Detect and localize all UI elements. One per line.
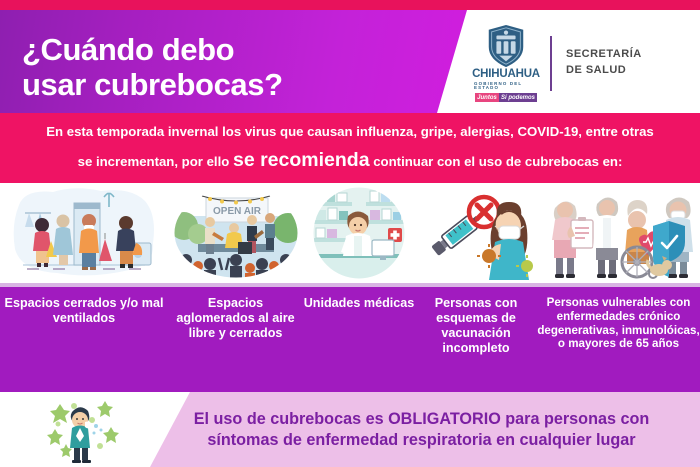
illustration-strip: OPEN AIR (0, 183, 700, 283)
caption-item-2: Espacios aglomerados al aire libre y cer… (168, 287, 303, 341)
open-air-concert-crowd-illustration: OPEN AIR (172, 186, 300, 280)
footer-line-1: El uso de cubrebocas es OBLIGATORIO para… (194, 409, 650, 430)
sneezing-person-with-germs-illustration (44, 398, 124, 464)
chihuahua-shield-logo: CHIHUAHUA GOBIERNO DEL ESTADO Juntos Sí … (474, 24, 538, 102)
secretaria-line2: DE SALUD (566, 63, 642, 79)
illustration-cell-2: OPEN AIR (168, 183, 303, 283)
page-title-line1: ¿Cuándo debo (22, 32, 234, 67)
intro-line-2-after: continuar con el uso de cubrebocas en: (370, 154, 623, 169)
illustration-cell-1 (0, 183, 168, 283)
infographic-poster: ¿Cuándo debo usar cubrebocas? CHIHUAHUA … (0, 0, 700, 467)
page-title: ¿Cuándo debo usar cubrebocas? (22, 32, 442, 103)
logo-vertical-divider (550, 36, 552, 91)
caption-item-4: Personas con esquemas de vacunación inco… (415, 287, 537, 356)
top-accent-strip (0, 0, 700, 10)
intro-emphasis: se recomienda (233, 149, 370, 171)
intro-line-2-before: se incrementan, por ello (78, 154, 233, 169)
logo-government-label: GOBIERNO DEL ESTADO (474, 82, 538, 91)
syringe-crossed-out-masked-woman-illustration (417, 186, 535, 280)
illustration-cell-4 (415, 183, 537, 283)
footer-line1-before: El uso de cubrebocas es (194, 410, 388, 428)
secretaria-line1: SECRETARÍA (566, 47, 642, 63)
government-logo: CHIHUAHUA GOBIERNO DEL ESTADO Juntos Sí … (474, 22, 700, 104)
shield-icon (486, 24, 526, 68)
footer-obligatorio: OBLIGATORIO (388, 410, 501, 428)
intro-line-1: En esta temporada invernal los virus que… (46, 125, 654, 140)
logo-state-name: CHIHUAHUA (472, 69, 540, 81)
footer-line1-after: para personas con (501, 410, 649, 428)
logo-tagline-juntos: Juntos (475, 93, 499, 102)
caption-item-5: Personas vulnerables con enfermedades cr… (537, 287, 700, 351)
page-title-line2: usar cubrebocas? (22, 67, 442, 102)
caption-band: Espacios cerrados y/o mal ventilados Esp… (0, 287, 700, 392)
clothing-store-shoppers-illustration (5, 185, 163, 281)
logo-tagline: Juntos Sí podemos (475, 93, 537, 102)
logo-tagline-si-podemos: Sí podemos (499, 93, 537, 102)
intro-band: En esta temporada invernal los virus que… (0, 113, 700, 183)
secretaria-de-salud-label: SECRETARÍA DE SALUD (566, 47, 642, 79)
illustration-cell-3 (303, 183, 415, 283)
intro-line-2: se incrementan, por ello se recomienda c… (78, 150, 623, 171)
pharmacy-medical-unit-illustration (310, 186, 408, 280)
caption-item-1: Espacios cerrados y/o mal ventilados (0, 287, 168, 326)
svg-text:OPEN AIR: OPEN AIR (213, 206, 262, 217)
footer-line-2: síntomas de enfermedad respiratoria en c… (207, 430, 635, 451)
elderly-vulnerable-people-wheelchair-illustration (541, 186, 696, 280)
illustration-cell-5 (537, 183, 700, 283)
footer-text: El uso de cubrebocas es OBLIGATORIO para… (143, 392, 700, 467)
caption-item-3: Unidades médicas (303, 287, 415, 311)
